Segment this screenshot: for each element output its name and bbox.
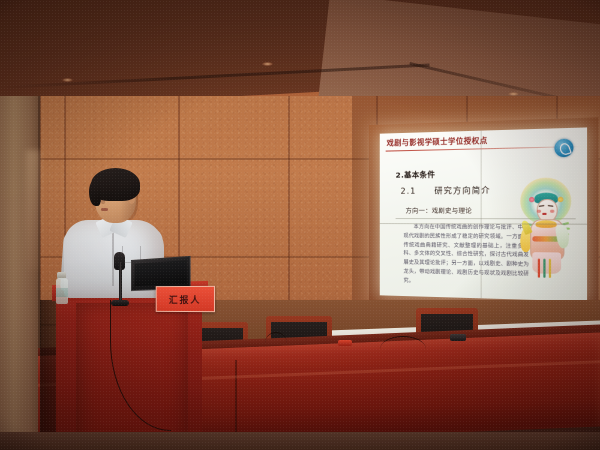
laptop-screen — [135, 260, 187, 286]
opera-mouth — [542, 213, 546, 215]
slide-direction-label: 方向一：戏剧史与理论 — [406, 206, 473, 215]
presenter-mouth — [101, 208, 108, 211]
microphone-base — [111, 300, 129, 306]
projection-screen-frame: 戏剧与影视学硕士学位授权点 2.基本条件 2.1 研究方向简介 方向一：戏剧史与… — [369, 117, 599, 312]
slide-subheading: 2.1 研究方向简介 — [401, 185, 491, 197]
column-light-reflection — [26, 150, 40, 270]
water-bottle-label — [56, 288, 68, 297]
presenter-hair-side — [89, 180, 101, 206]
slide-subheading-number: 2.1 — [401, 187, 417, 196]
ceiling-downlight-1 — [62, 78, 73, 82]
floor — [0, 432, 600, 450]
slide-body-paragraph: 本方向在中国传统戏曲的创作理论与批评、中国现代戏剧的民族性形成了稳定的研究领域。… — [404, 223, 529, 288]
opera-pompom-right — [558, 197, 564, 202]
opera-skirt — [532, 252, 561, 274]
table-device[interactable] — [450, 334, 466, 341]
slide-heading: 2.基本条件 — [396, 169, 436, 181]
table-red-item[interactable] — [338, 340, 352, 346]
slide-subheading-text: 研究方向简介 — [434, 186, 490, 196]
projector-blend-seam-vertical — [481, 131, 482, 299]
conference-room-photo: 戏剧与影视学硕士学位授权点 2.基本条件 2.1 研究方向简介 方向一：戏剧史与… — [0, 0, 600, 450]
podium-sign-text: 汇报人 — [169, 292, 202, 305]
podium-presenter-sign: 汇报人 — [156, 286, 215, 312]
ceiling-downlight-2 — [262, 62, 273, 66]
peking-opera-character-illustration — [514, 177, 578, 280]
university-circular-logo — [554, 139, 573, 158]
presentation-slide: 戏剧与影视学硕士学位授权点 2.基本条件 2.1 研究方向简介 方向一：戏剧史与… — [380, 127, 587, 301]
projection-screen-surface[interactable]: 戏剧与影视学硕士学位授权点 2.基本条件 2.1 研究方向简介 方向一：戏剧史与… — [380, 127, 587, 301]
